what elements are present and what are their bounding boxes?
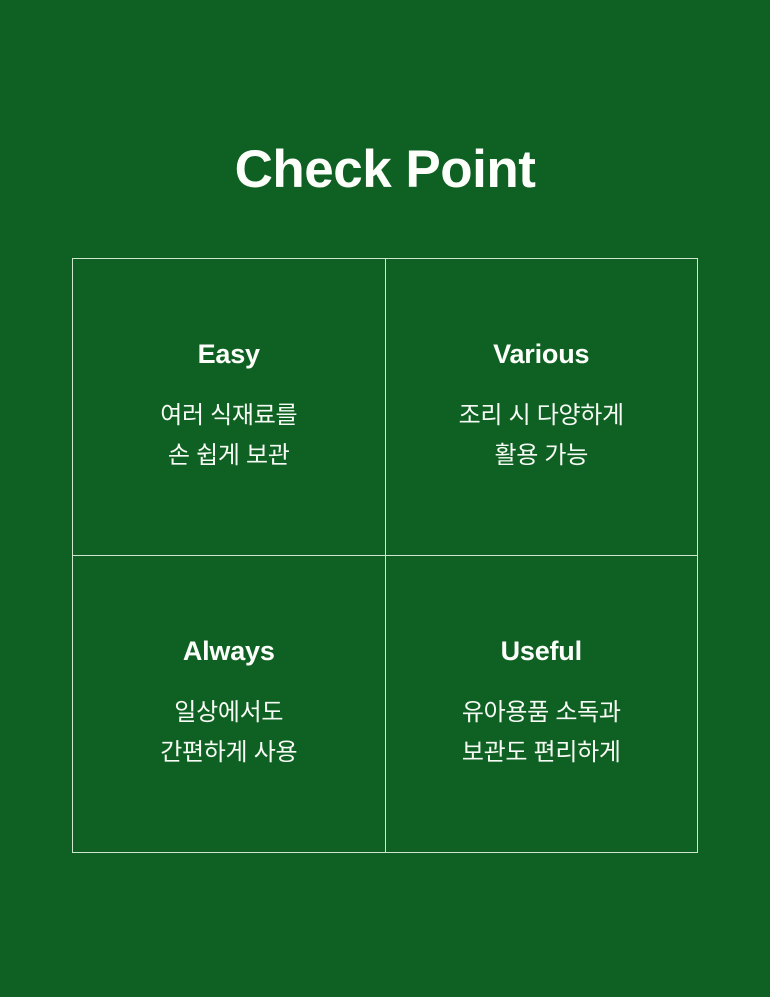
cell-body-line-1: 일상에서도 (160, 693, 297, 733)
check-point-poster: Check Point Easy 여러 식재료를 손 쉽게 보관 Various… (0, 0, 770, 997)
cell-body-always: 일상에서도 간편하게 사용 (160, 693, 297, 773)
cell-body-easy: 여러 식재료를 손 쉽게 보관 (160, 396, 297, 476)
cell-body-line-1: 여러 식재료를 (160, 396, 297, 436)
cell-body-useful: 유아용품 소독과 보관도 편리하게 (462, 693, 621, 773)
cell-body-line-1: 조리 시 다양하게 (459, 396, 624, 436)
grid-cell-always: Always 일상에서도 간편하게 사용 (73, 556, 386, 853)
cell-body-line-1: 유아용품 소독과 (462, 693, 621, 733)
check-point-grid: Easy 여러 식재료를 손 쉽게 보관 Various 조리 시 다양하게 활… (72, 258, 698, 853)
cell-body-line-2: 활용 가능 (459, 436, 624, 476)
page-title-container: Check Point (0, 142, 770, 198)
grid-cell-easy: Easy 여러 식재료를 손 쉽게 보관 (73, 259, 386, 556)
page-title: Check Point (235, 142, 536, 198)
cell-heading-easy: Easy (198, 339, 260, 370)
cell-body-line-2: 보관도 편리하게 (462, 733, 621, 773)
grid-cell-various: Various 조리 시 다양하게 활용 가능 (386, 259, 699, 556)
cell-body-line-2: 손 쉽게 보관 (160, 436, 297, 476)
cell-body-various: 조리 시 다양하게 활용 가능 (459, 396, 624, 476)
cell-heading-various: Various (493, 339, 589, 370)
grid-cell-useful: Useful 유아용품 소독과 보관도 편리하게 (386, 556, 699, 853)
cell-body-line-2: 간편하게 사용 (160, 733, 297, 773)
cell-heading-always: Always (183, 636, 275, 667)
cell-heading-useful: Useful (501, 636, 582, 667)
